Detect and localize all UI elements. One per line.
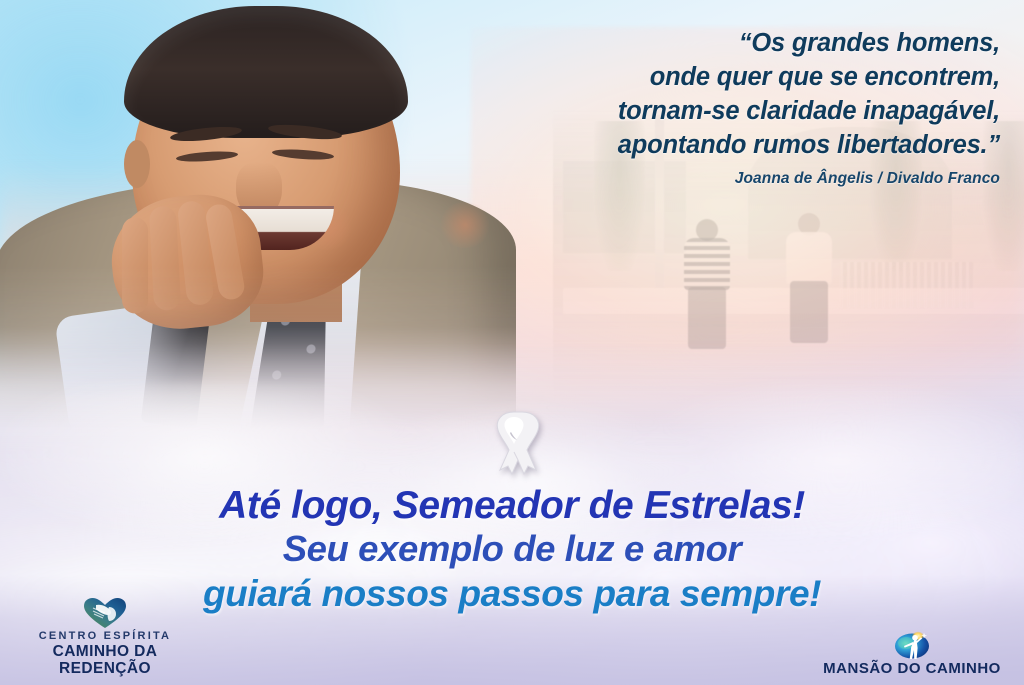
headline-line-2: Seu exemplo de luz e amor [0, 531, 1024, 568]
figure-legs [790, 281, 828, 343]
memorial-poster: “Os grandes homens, onde quer que se enc… [0, 0, 1024, 685]
headline-line-1: Até logo, Semeador de Estrelas! [0, 486, 1024, 525]
portrait-ear [124, 140, 150, 188]
quote-block: “Os grandes homens, onde quer que se enc… [440, 26, 1000, 162]
figure-torso [786, 232, 832, 284]
logo-mansao-do-caminho: MANSÃO DO CAMINHO [806, 626, 1018, 677]
logo-centro-espirita: CENTRO ESPÍRITA CAMINHO DA REDENÇÃO [10, 596, 200, 677]
mourning-ribbon-icon [487, 408, 541, 478]
portrait-hair [124, 6, 408, 138]
logo-right-line-1: MANSÃO DO CAMINHO [806, 660, 1018, 677]
logo-left-line-1: CENTRO ESPÍRITA [10, 630, 200, 643]
quote-line-1: “Os grandes homens, [440, 26, 1000, 60]
finger [122, 217, 148, 313]
portrait-cheek-right [438, 202, 492, 248]
quote-line-4: apontando rumos libertadores.” [440, 128, 1000, 162]
heart-hands-icon [10, 596, 200, 630]
headline-block: Até logo, Semeador de Estrelas! Seu exem… [0, 486, 1024, 612]
finger [149, 206, 181, 311]
globe-figure-icon [806, 626, 1018, 660]
figure-legs [688, 287, 726, 349]
logo-left-line-2: CAMINHO DA REDENÇÃO [10, 643, 200, 677]
quote-attribution: Joanna de Ângelis / Divaldo Franco [440, 170, 1000, 188]
quote-line-2: onde quer que se encontrem, [440, 60, 1000, 94]
figure-torso [684, 238, 730, 290]
quote-line-3: tornam-se claridade inapagável, [440, 94, 1000, 128]
